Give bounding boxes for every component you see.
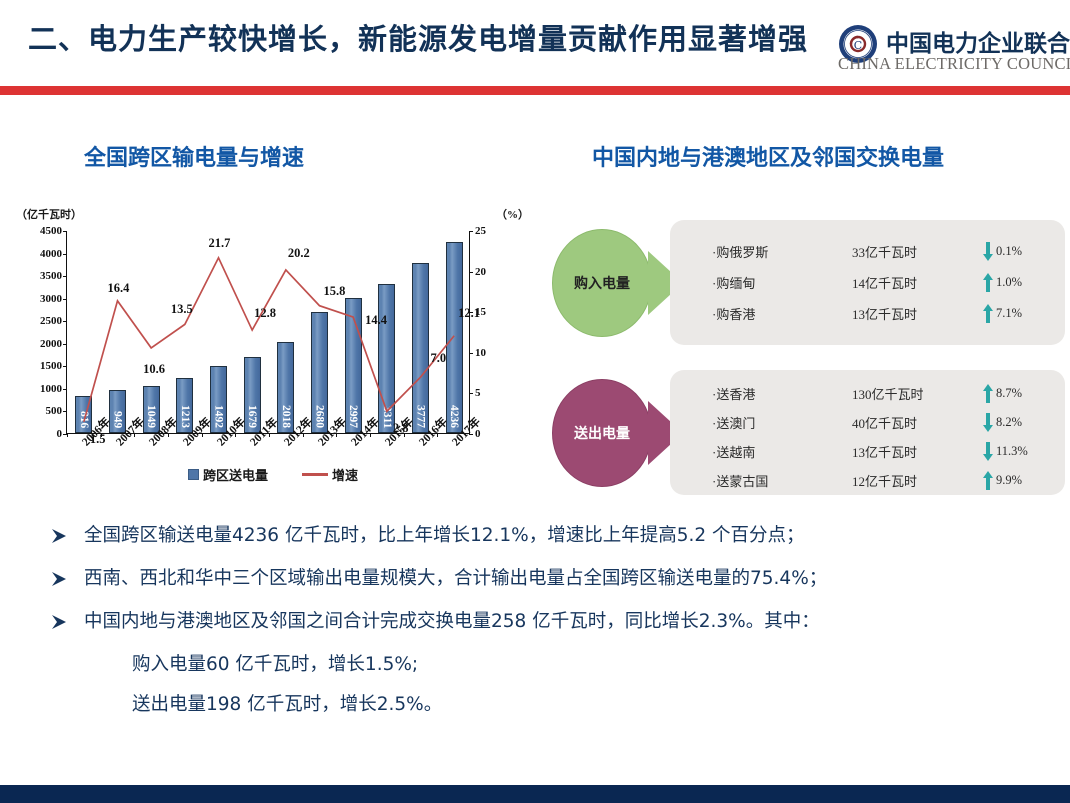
exchange-detail-row: ·购俄罗斯33亿千瓦时0.1% [712, 238, 1055, 264]
purchase-circle: 购入电量 [552, 229, 652, 337]
exchange-partner-label: ·送越南 [712, 442, 852, 461]
y2-axis-tick-label: 5 [475, 387, 481, 399]
chart-plot-area: 0500100015002000250030003500400045000510… [66, 231, 470, 434]
y-axis-tick-label: 4500 [40, 225, 62, 237]
y-axis-tick-label: 3000 [40, 293, 62, 305]
y2-axis-unit-label: （%） [496, 206, 529, 222]
y-axis-tick-label: 1000 [40, 383, 62, 395]
exchange-change-percent: 1.0% [996, 275, 1022, 290]
chart-legend: 跨区送电量 增速 [188, 465, 358, 484]
bullet-marker [50, 613, 70, 631]
legend-line-label: 增速 [332, 465, 358, 484]
slide-root: 二、电力生产较快增长，新能源发电增量贡献作用显著增强 C 中国电力企业联合会 C… [0, 0, 1070, 803]
exchange-change: 1.0% [982, 272, 1022, 293]
arrow-down-icon [982, 412, 994, 433]
exchange-partner-label: ·购缅甸 [712, 273, 852, 292]
arrow-down-icon [982, 241, 994, 262]
exchange-change-percent: 7.1% [996, 306, 1022, 321]
y-axis-tick-label: 1500 [40, 360, 62, 372]
y-axis-unit-label: （亿千瓦时） [16, 206, 82, 222]
bullet-level2: 送出电量198 亿千瓦时，增长2.5%。 [48, 693, 1058, 716]
exchange-detail-row: ·购香港13亿千瓦时7.1% [712, 300, 1055, 326]
chevron-bullet-icon [50, 570, 70, 588]
exchange-detail-row: ·送越南13亿千瓦时11.3% [712, 438, 1055, 464]
exchange-detail-row: ·购缅甸14亿千瓦时1.0% [712, 269, 1055, 295]
bullet-text: 购入电量60 亿千瓦时，增长1.5%; [132, 654, 418, 675]
chart-line-value-label: 21.7 [209, 236, 231, 251]
diagram-group-export: 送出电量 ·送香港130亿千瓦时8.7%·送澳门40亿千瓦时8.2%·送越南13… [545, 370, 1065, 495]
y-axis-tick-label: 4000 [40, 248, 62, 260]
bullet-level1: 西南、西北和华中三个区域输出电量规模大，合计输出电量占全国跨区输送电量的75.4… [48, 567, 1058, 590]
chart-line-value-label: 16.4 [108, 281, 130, 296]
y-axis-tick-label: 500 [46, 405, 63, 417]
exchange-change: 9.9% [982, 470, 1022, 491]
y-axis-tick-label: 0 [57, 428, 63, 440]
exchange-power-diagram: 购入电量 ·购俄罗斯33亿千瓦时0.1%·购缅甸14亿千瓦时1.0%·购香港13… [545, 205, 1065, 505]
bullet-level2: 购入电量60 亿千瓦时，增长1.5%; [48, 653, 1058, 676]
exchange-detail-row: ·送香港130亿千瓦时8.7% [712, 380, 1055, 406]
arrow-up-icon [982, 303, 994, 324]
chart-line-value-label: 12.1 [458, 306, 480, 321]
y-axis-tick-label: 2000 [40, 338, 62, 350]
legend-bar-label: 跨区送电量 [203, 465, 268, 484]
chart-line-value-label: 20.2 [288, 246, 310, 261]
arrow-up-icon [982, 272, 994, 293]
exchange-partner-label: ·送香港 [712, 384, 852, 403]
export-circle: 送出电量 [552, 379, 652, 487]
exchange-amount-label: 13亿千瓦时 [852, 304, 982, 323]
footer-blue-bar [0, 785, 1070, 803]
exchange-amount-label: 12亿千瓦时 [852, 471, 982, 490]
chevron-bullet-icon [50, 613, 70, 631]
diamond-bullet-icon [100, 698, 114, 712]
exchange-amount-label: 13亿千瓦时 [852, 442, 982, 461]
diagram-group-purchase: 购入电量 ·购俄罗斯33亿千瓦时0.1%·购缅甸14亿千瓦时1.0%·购香港13… [545, 220, 1065, 345]
exchange-amount-label: 40亿千瓦时 [852, 413, 982, 432]
header-red-divider [0, 86, 1070, 95]
exchange-detail-row: ·送蒙古国12亿千瓦时9.9% [712, 467, 1055, 493]
cross-region-power-chart: （亿千瓦时） （%） 05001000150020002500300035004… [10, 200, 530, 500]
y2-axis-tick-label: 25 [475, 225, 486, 237]
bullet-text: 送出电量198 亿千瓦时，增长2.5%。 [132, 694, 442, 715]
bullet-list: 全国跨区输送电量4236 亿千瓦时，比上年增长12.1%，增速比上年提高5.2 … [48, 524, 1058, 732]
exchange-amount-label: 14亿千瓦时 [852, 273, 982, 292]
exchange-change: 7.1% [982, 303, 1022, 324]
arrow-up-icon [982, 470, 994, 491]
chart-line-value-label: 12.8 [254, 306, 276, 321]
exchange-detail-row: ·送澳门40亿千瓦时8.2% [712, 409, 1055, 435]
export-circle-label: 送出电量 [574, 423, 630, 443]
exchange-change-percent: 11.3% [996, 444, 1028, 459]
y-axis-tick-label: 2500 [40, 315, 62, 327]
chevron-bullet-icon [50, 527, 70, 545]
purchase-circle-label: 购入电量 [574, 273, 630, 293]
svg-text:C: C [854, 39, 862, 52]
bullet-text: 全国跨区输送电量4236 亿千瓦时，比上年增长12.1%，增速比上年提高5.2 … [84, 525, 805, 546]
organization-logo: C 中国电力企业联合会 CHINA ELECTRICITY COUNCIL [838, 22, 1070, 80]
exchange-change-percent: 8.2% [996, 415, 1022, 430]
bullet-level1: 全国跨区输送电量4236 亿千瓦时，比上年增长12.1%，增速比上年提高5.2 … [48, 524, 1058, 547]
exchange-partner-label: ·送蒙古国 [712, 471, 852, 490]
left-section-title: 全国跨区输电量与增速 [84, 140, 304, 172]
chart-line-value-label: 14.4 [365, 313, 387, 328]
purchase-detail-panel: ·购俄罗斯33亿千瓦时0.1%·购缅甸14亿千瓦时1.0%·购香港13亿千瓦时7… [670, 220, 1065, 345]
y2-axis-tick-label: 20 [475, 266, 486, 278]
growth-rate-line [67, 231, 471, 434]
bullet-marker [50, 527, 70, 545]
legend-line-swatch-icon [302, 473, 328, 475]
bullet-text: 西南、西北和华中三个区域输出电量规模大，合计输出电量占全国跨区输送电量的75.4… [84, 568, 827, 589]
exchange-partner-label: ·送澳门 [712, 413, 852, 432]
exchange-change: 0.1% [982, 241, 1022, 262]
chart-line-value-label: 2.8 [393, 421, 409, 436]
y2-axis-tick-label: 10 [475, 347, 486, 359]
page-title: 二、电力生产较快增长，新能源发电增量贡献作用显著增强 [28, 16, 808, 58]
chart-line-value-label: 7.0 [431, 351, 447, 366]
slide-header: 二、电力生产较快增长，新能源发电增量贡献作用显著增强 C 中国电力企业联合会 C… [0, 0, 1070, 86]
y-axis-tick-label: 3500 [40, 270, 62, 282]
exchange-amount-label: 33亿千瓦时 [852, 242, 982, 261]
exchange-partner-label: ·购香港 [712, 304, 852, 323]
legend-item-bar: 跨区送电量 [188, 465, 268, 484]
arrow-up-icon [982, 383, 994, 404]
exchange-change-percent: 8.7% [996, 386, 1022, 401]
bullet-text: 中国内地与港澳地区及邻国之间合计完成交换电量258 亿千瓦时，同比增长2.3%。… [84, 611, 820, 632]
logo-english-name: CHINA ELECTRICITY COUNCIL [838, 54, 1070, 74]
chart-line-value-label: 15.8 [324, 284, 346, 299]
chart-line-value-label: 1.5 [90, 432, 106, 447]
export-detail-panel: ·送香港130亿千瓦时8.7%·送澳门40亿千瓦时8.2%·送越南13亿千瓦时1… [670, 370, 1065, 495]
bullet-level1: 中国内地与港澳地区及邻国之间合计完成交换电量258 亿千瓦时，同比增长2.3%。… [48, 610, 1058, 633]
logo-chinese-name: 中国电力企业联合会 [886, 24, 1070, 58]
exchange-change: 8.2% [982, 412, 1022, 433]
exchange-partner-label: ·购俄罗斯 [712, 242, 852, 261]
chart-line-value-label: 10.6 [143, 362, 165, 377]
exchange-change: 8.7% [982, 383, 1022, 404]
legend-item-line: 增速 [302, 465, 358, 484]
bullet-marker [50, 570, 70, 588]
exchange-change-percent: 0.1% [996, 244, 1022, 259]
legend-bar-swatch-icon [188, 469, 199, 480]
arrow-down-icon [982, 441, 994, 462]
exchange-amount-label: 130亿千瓦时 [852, 384, 982, 403]
right-section-title: 中国内地与港澳地区及邻国交换电量 [592, 140, 944, 172]
chart-line-value-label: 13.5 [171, 302, 193, 317]
exchange-change-percent: 9.9% [996, 473, 1022, 488]
diamond-bullet-icon [100, 658, 114, 672]
exchange-change: 11.3% [982, 441, 1028, 462]
